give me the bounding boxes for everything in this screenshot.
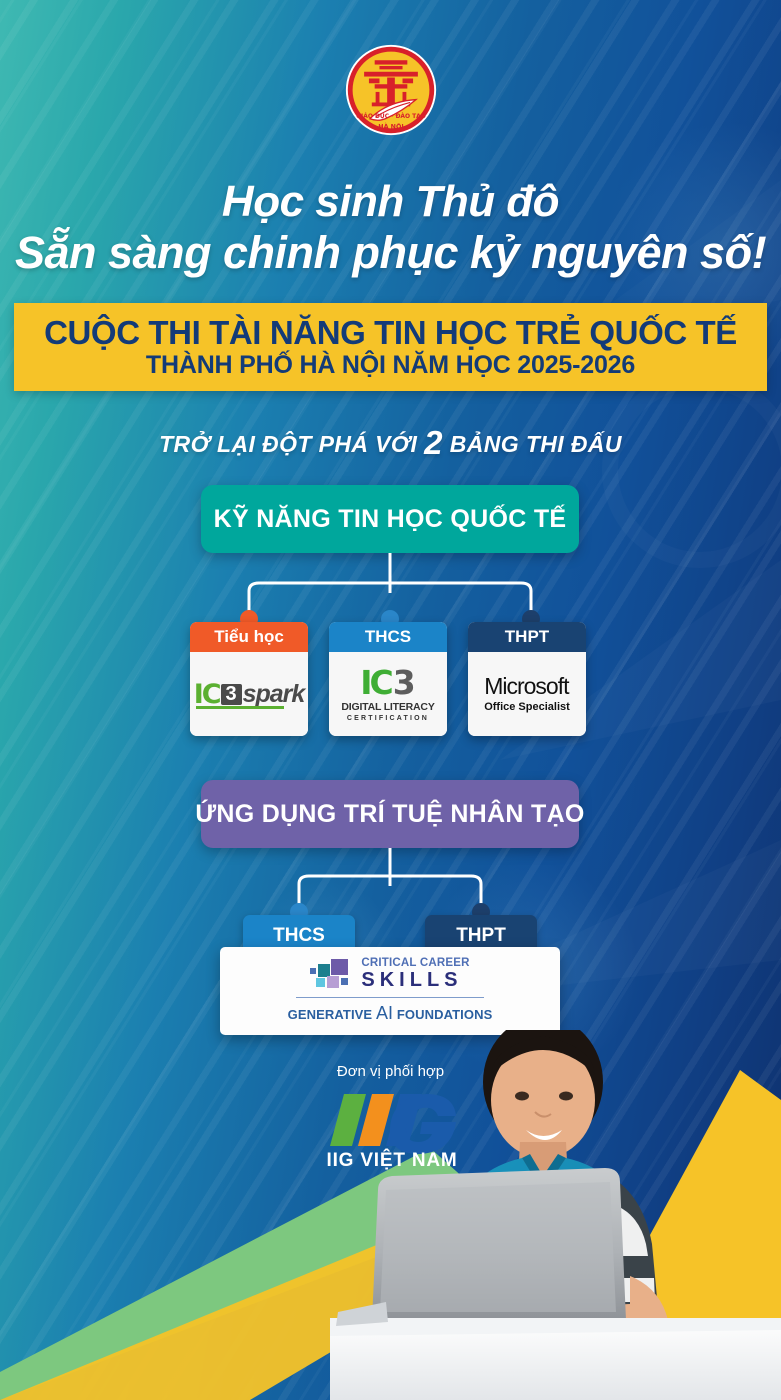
tab-ai-thcs-label: THCS: [273, 925, 325, 947]
card-thcs-skills-header: THCS: [329, 622, 447, 652]
ccs-wordmark: CRITICAL CAREER SKILLS: [361, 958, 469, 991]
ccs-divider: [296, 997, 484, 998]
card-tieu-hoc[interactable]: Tiểu học IC3spark: [190, 622, 308, 736]
ic3-dlc-line3-text: CERTIFICATION: [341, 715, 434, 722]
headline-line-1: Học sinh Thủ đô: [0, 176, 781, 227]
emblem-line2-text: HÀ NỘI: [378, 121, 403, 130]
card-thpt-skills-body: Microsoft Office Specialist: [468, 652, 586, 736]
contest-title-line-2: THÀNH PHỐ HÀ NỘI NĂM HỌC 2025-2026: [146, 353, 635, 378]
section-ai-box[interactable]: ỨNG DỤNG TRÍ TUỆ NHÂN TẠO: [201, 780, 579, 848]
contest-title-line-1: CUỘC THI TÀI NĂNG TIN HỌC TRẺ QUỐC TẾ: [44, 316, 737, 349]
student-with-laptop-photo: [330, 1030, 781, 1400]
ccs-subtitle-before-text: GENERATIVE: [288, 1007, 373, 1022]
ic3-spark-logo-icon: IC3spark: [194, 679, 305, 710]
card-thcs-skills-body: IC3 DIGITAL LITERACY CERTIFICATION: [329, 652, 447, 736]
ic3-dlc-three-text: 3: [393, 666, 416, 699]
card-tieu-hoc-body: IC3spark: [190, 652, 308, 736]
ccs-subtitle: GENERATIVE AI FOUNDATIONS: [288, 1003, 493, 1024]
subline-before-text: TRỞ LẠI ĐỘT PHÁ VỚI: [159, 431, 417, 457]
headline-line-2: Sẵn sàng chinh phục kỷ nguyên số!: [0, 227, 781, 279]
ic3-dlc-line2-text: DIGITAL LITERACY: [341, 702, 434, 713]
contest-subline: TRỞ LẠI ĐỘT PHÁ VỚI 2 BẢNG THI ĐẤU: [0, 424, 781, 462]
ic3-spark-word-text: spark: [243, 680, 305, 709]
ccs-logo-row: CRITICAL CAREER SKILLS: [310, 958, 469, 991]
iig-vietnam-name-text: IIG VIỆT NAM: [322, 1150, 462, 1172]
ccs-subtitle-ai-text: AI: [376, 1003, 393, 1023]
subline-number: 2: [424, 424, 443, 461]
ic3-spark-underline: [196, 706, 285, 709]
ic3-digital-literacy-logo-icon: IC3 DIGITAL LITERACY CERTIFICATION: [341, 666, 434, 722]
microsoft-wordmark-text: Microsoft: [484, 675, 570, 698]
connector-skills: [190, 553, 590, 633]
partner-label: Đơn vị phối hợp: [0, 1063, 781, 1080]
hanoi-education-emblem-icon: GIÁO DỤC · ĐÀO TẠO HÀ NỘI: [343, 42, 439, 138]
section-ai-title: ỨNG DỤNG TRÍ TUỆ NHÂN TẠO: [195, 800, 584, 829]
ic3-dlc-ic-text: IC: [360, 666, 391, 699]
card-thpt-skills[interactable]: THPT Microsoft Office Specialist: [468, 622, 586, 736]
section-skills-box[interactable]: KỸ NĂNG TIN HỌC QUỐC TẾ: [201, 485, 579, 553]
emblem-container: GIÁO DỤC · ĐÀO TẠO HÀ NỘI: [0, 42, 781, 138]
contest-title-banner: CUỘC THI TÀI NĂNG TIN HỌC TRẺ QUỐC TẾ TH…: [14, 303, 767, 391]
ccs-title-main-text: SKILLS: [361, 970, 469, 990]
tab-ai-thpt-label: THPT: [456, 925, 506, 947]
card-thcs-skills[interactable]: THCS IC3 DIGITAL LITERACY CERTIFICATION: [329, 622, 447, 736]
emblem-line1-text: GIÁO DỤC · ĐÀO TẠO: [356, 113, 426, 120]
ic3-spark-three-text: 3: [221, 684, 242, 705]
ccs-title-top-text: CRITICAL CAREER: [361, 958, 469, 970]
card-thpt-skills-header: THPT: [468, 622, 586, 652]
card-critical-career-skills[interactable]: CRITICAL CAREER SKILLS GENERATIVE AI FOU…: [220, 947, 560, 1035]
poster-root: GIÁO DỤC · ĐÀO TẠO HÀ NỘI Học sinh Thủ đ…: [0, 0, 781, 1400]
ccs-subtitle-after-text: FOUNDATIONS: [397, 1007, 492, 1022]
subline-after-text: BẢNG THI ĐẤU: [450, 431, 622, 457]
office-specialist-text: Office Specialist: [484, 702, 570, 713]
section-skills-title: KỸ NĂNG TIN HỌC QUỐC TẾ: [214, 505, 567, 534]
ccs-squares-icon: [310, 959, 354, 989]
poster-headline: Học sinh Thủ đô Sẵn sàng chinh phục kỷ n…: [0, 176, 781, 279]
iig-vietnam-logo-icon: IIG VIỆT NAM: [322, 1090, 462, 1172]
microsoft-office-specialist-logo-icon: Microsoft Office Specialist: [484, 675, 570, 713]
card-tieu-hoc-header: Tiểu học: [190, 622, 308, 652]
